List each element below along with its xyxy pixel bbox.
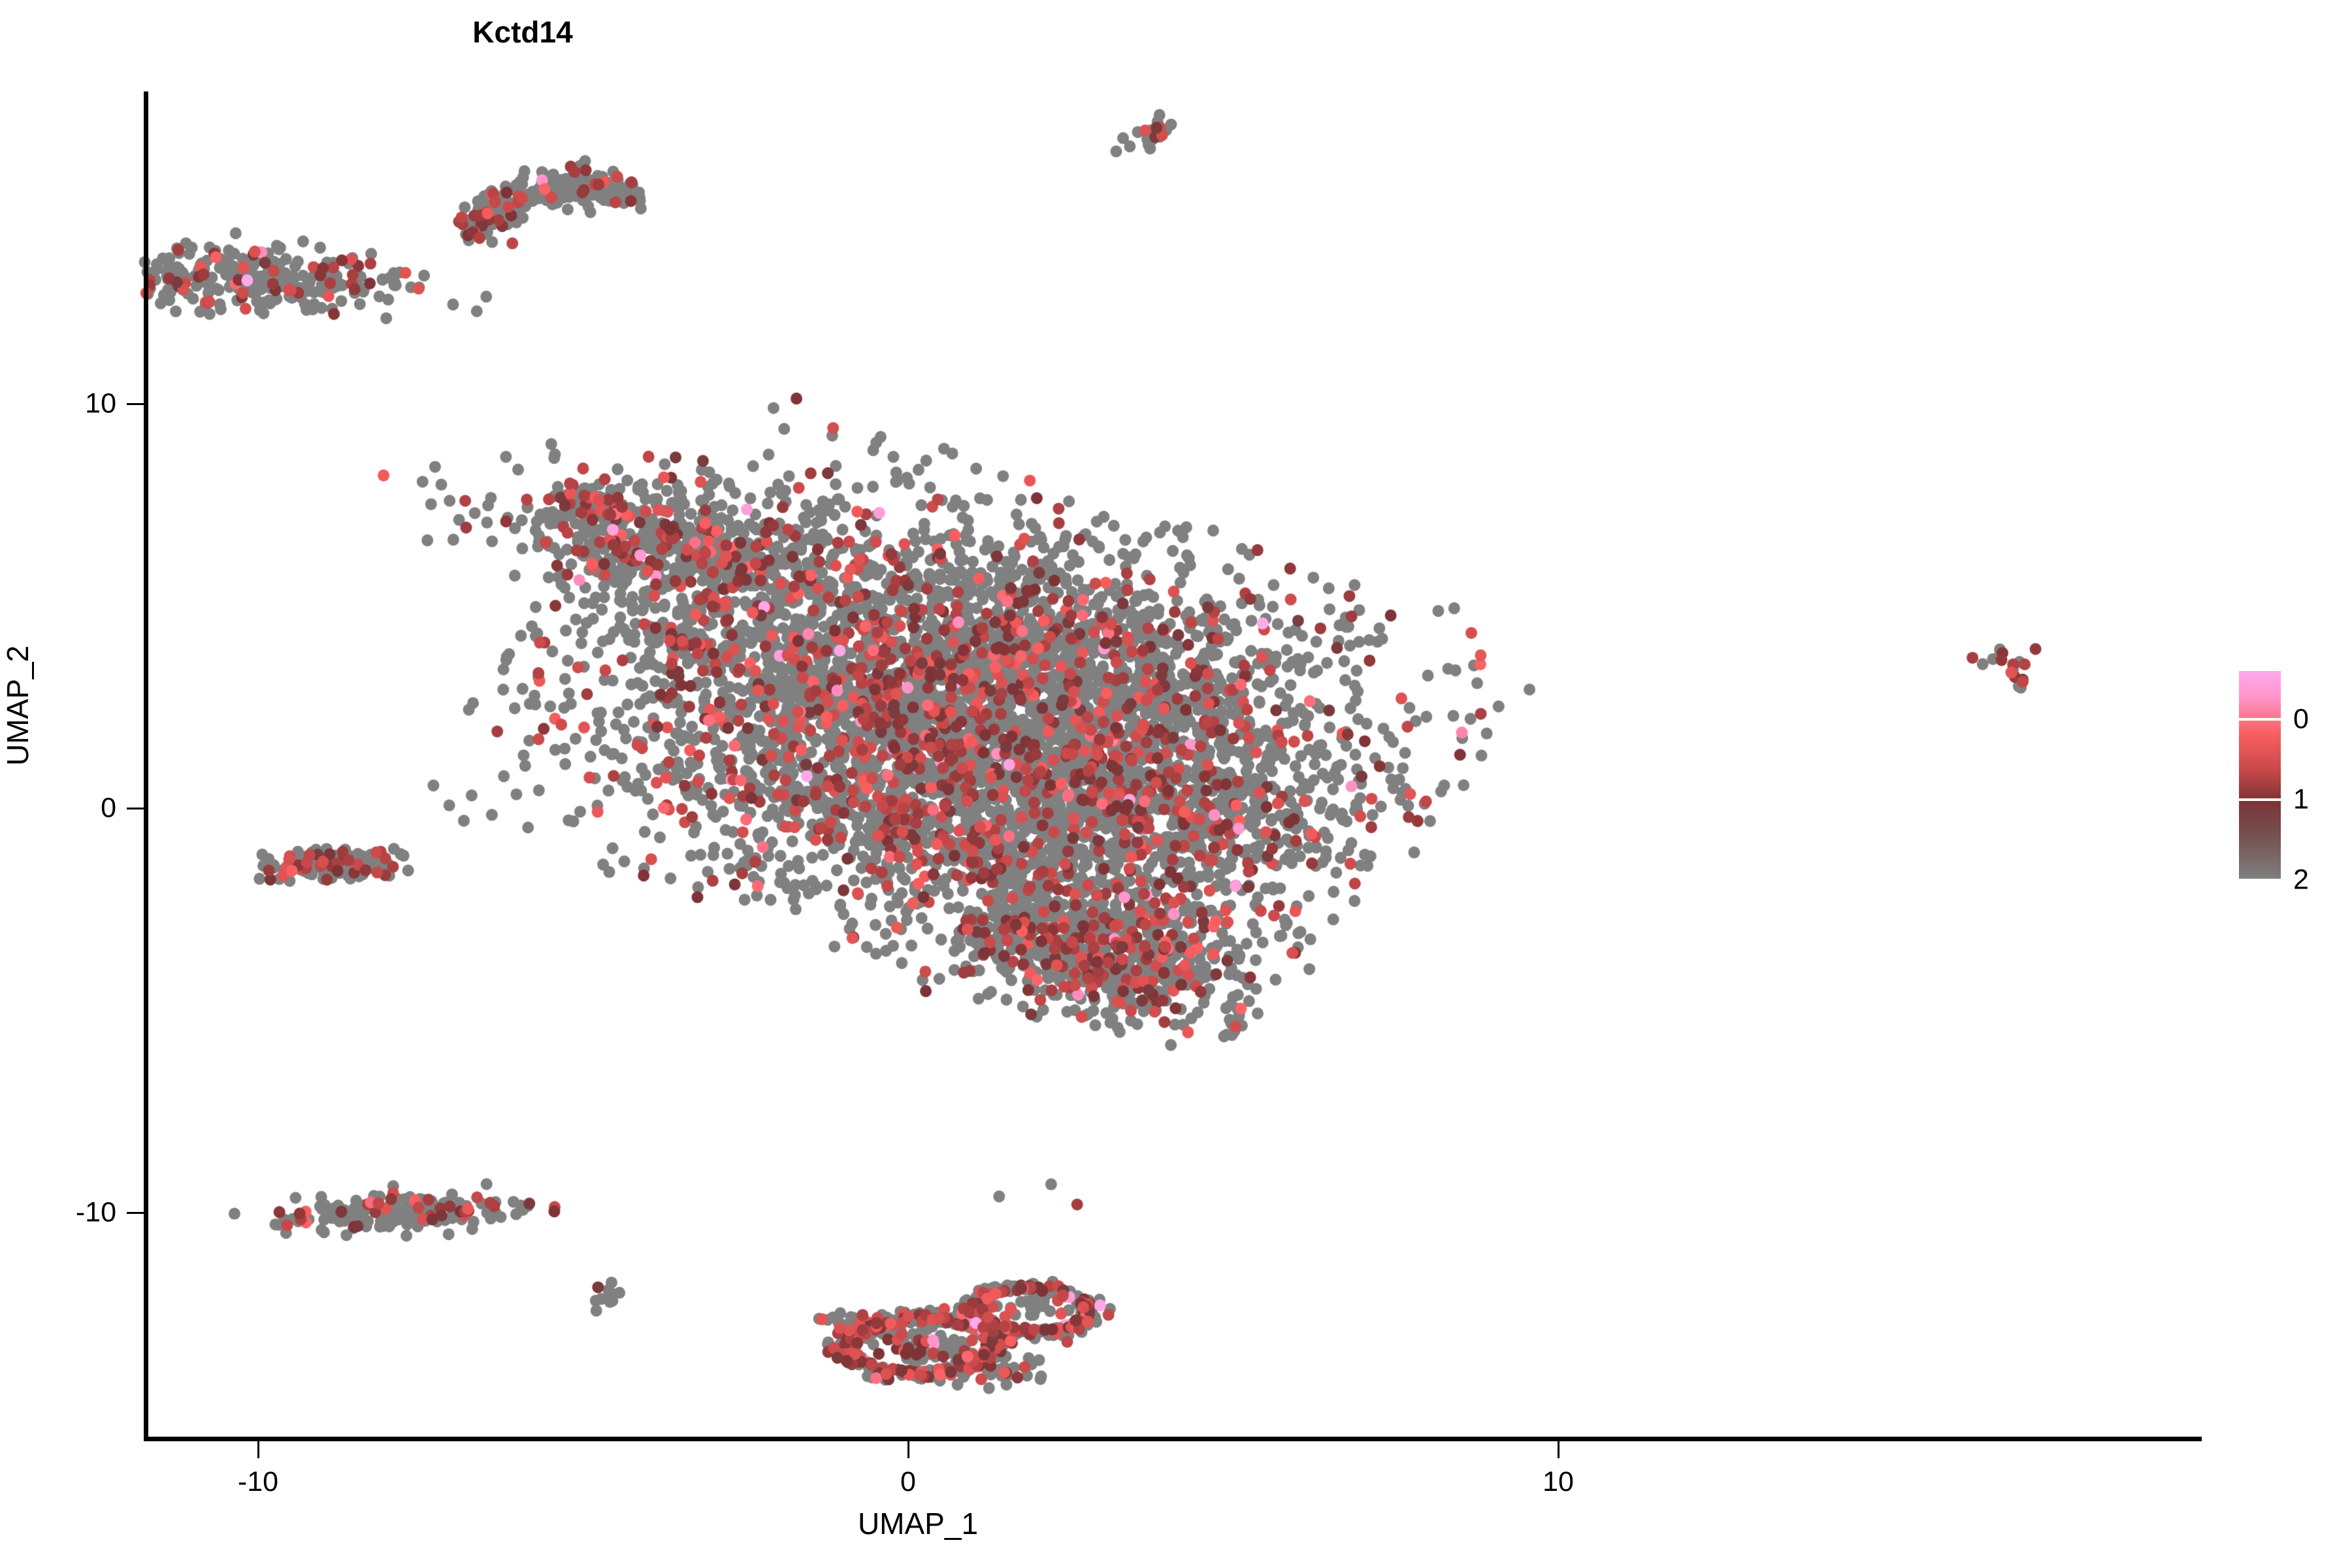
y-tick-mark — [127, 403, 144, 405]
legend-colorbar — [2239, 671, 2281, 880]
legend-tick-mark — [2239, 718, 2281, 721]
color-legend: 210 — [2231, 660, 2342, 895]
legend-tick-label: 1 — [2293, 783, 2309, 815]
plot-panel — [144, 91, 2202, 1439]
page-title: Kctd14 — [0, 14, 2352, 50]
x-tick-label: 0 — [900, 1466, 916, 1498]
legend-tick-mark — [2239, 798, 2281, 801]
scatter-points — [0, 0, 2352, 1568]
x-tick-label: 10 — [1543, 1466, 1574, 1498]
y-tick-label: 10 — [85, 388, 116, 420]
x-tick-label: -10 — [238, 1466, 278, 1498]
x-tick-mark — [907, 1441, 909, 1458]
y-tick-label: -10 — [76, 1197, 116, 1229]
y-axis-line — [144, 91, 148, 1441]
y-axis-label: UMAP_2 — [0, 645, 35, 766]
legend-tick-label: 2 — [2293, 864, 2309, 896]
legend-tick-mark — [2239, 879, 2281, 881]
y-tick-mark — [127, 808, 144, 809]
x-tick-mark — [1558, 1441, 1560, 1458]
y-tick-mark — [127, 1212, 144, 1214]
x-axis-line — [144, 1437, 2202, 1441]
x-tick-mark — [257, 1441, 259, 1458]
legend-tick-label: 0 — [2293, 703, 2309, 735]
y-tick-label: 0 — [101, 792, 116, 825]
x-axis-label: UMAP_1 — [144, 1506, 2202, 1541]
